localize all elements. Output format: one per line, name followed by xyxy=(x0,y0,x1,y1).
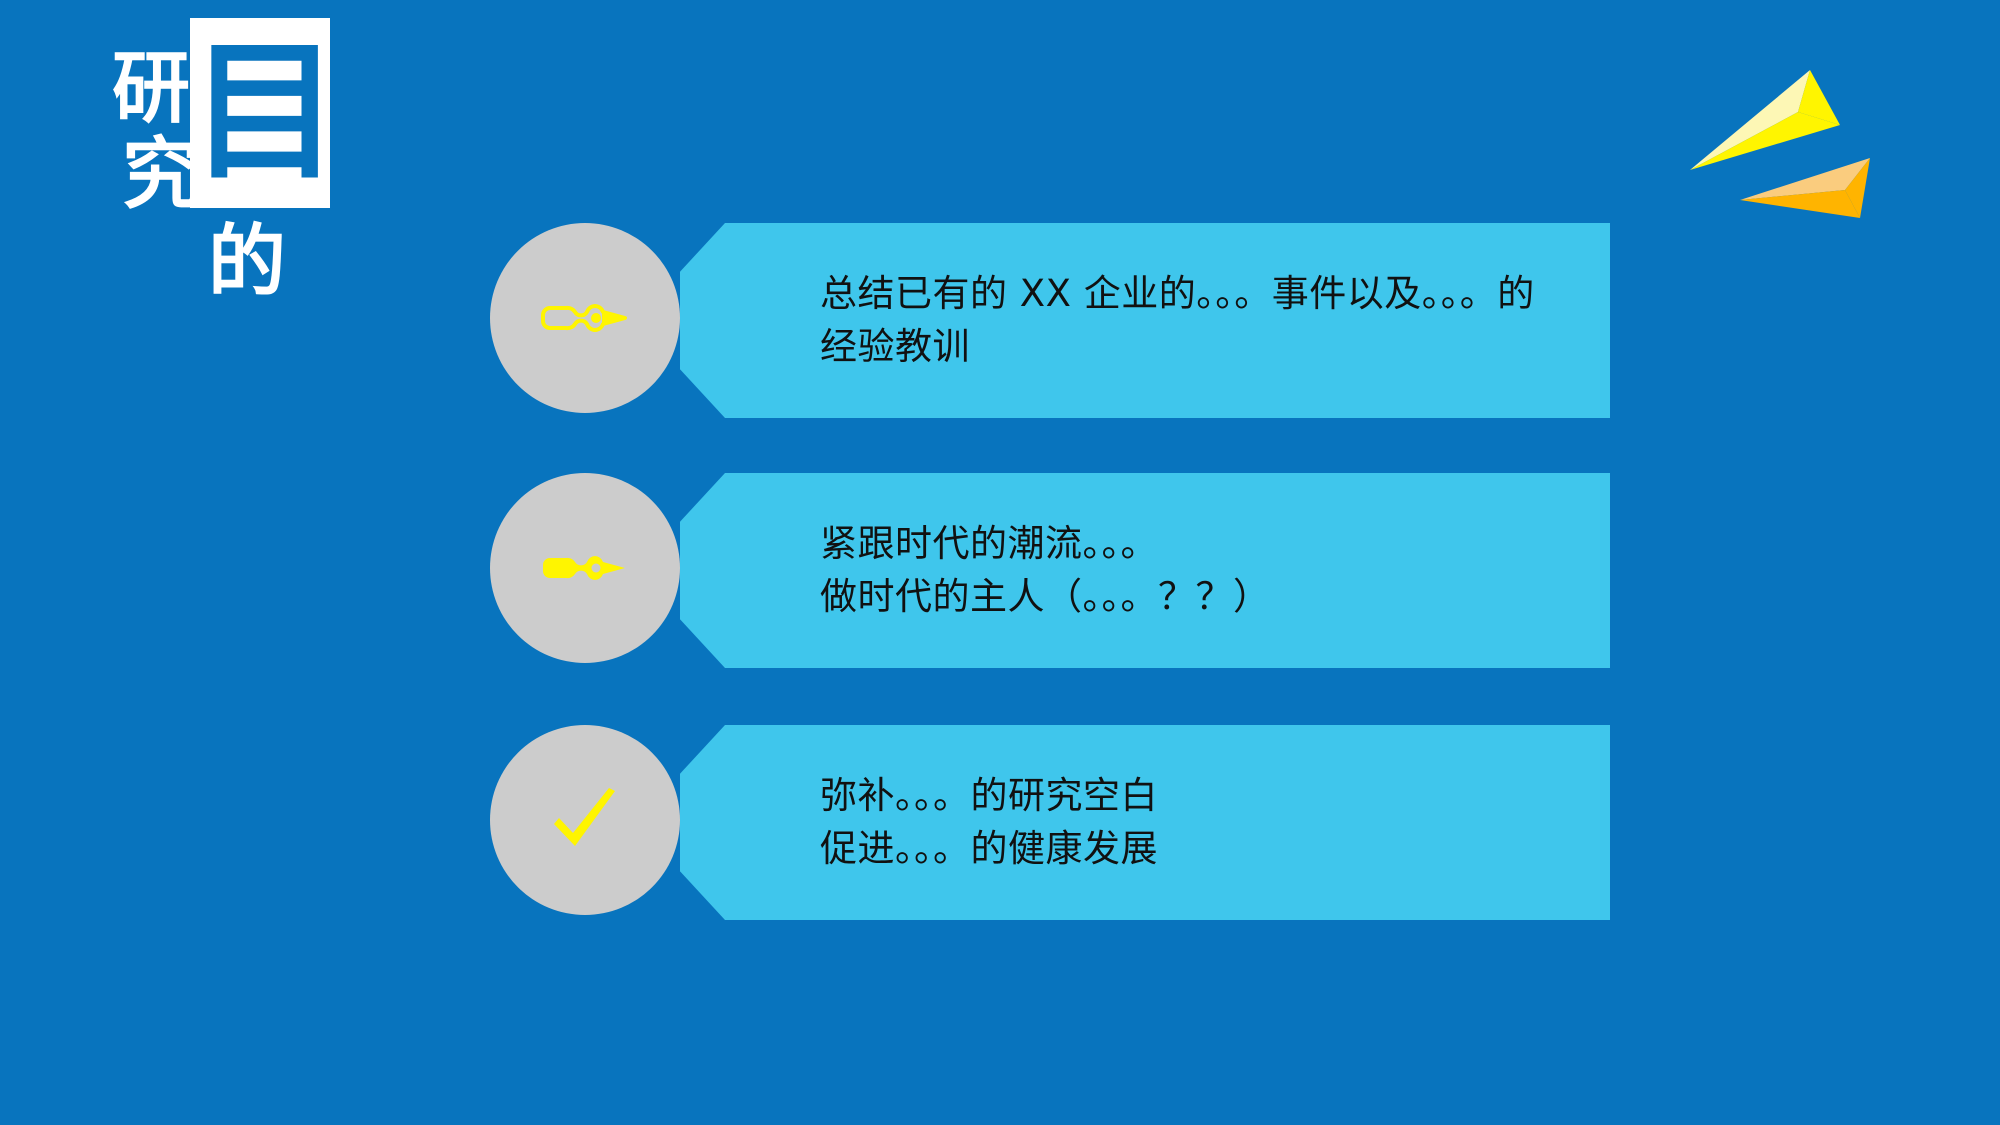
pen-nib-outline-icon xyxy=(490,223,680,413)
banner-line: 做时代的主人（。。。？？） xyxy=(820,571,1580,624)
banner-line: 促进。。。的健康发展 xyxy=(820,823,1580,876)
banner-text: 紧跟时代的潮流。。。 做时代的主人（。。。？？） xyxy=(820,473,1580,668)
banner-shape: 紧跟时代的潮流。。。 做时代的主人（。。。？？） xyxy=(680,473,1610,668)
banner-line: 紧跟时代的潮流。。。 xyxy=(820,518,1580,571)
list-item[interactable]: 紧跟时代的潮流。。。 做时代的主人（。。。？？） xyxy=(490,473,1610,668)
banner-text: 弥补。。。的研究空白 促进。。。的健康发展 xyxy=(820,725,1580,920)
list-item[interactable]: 弥补。。。的研究空白 促进。。。的健康发展 xyxy=(490,725,1610,920)
slide-canvas: 目 研 究 的 总结已有的 XX 企业的。。。事件以及。。。的 xyxy=(0,0,2000,1125)
banner-line: 经验教训 xyxy=(820,321,1580,374)
banner-shape: 总结已有的 XX 企业的。。。事件以及。。。的 经验教训 xyxy=(680,223,1610,418)
pen-nib-filled-icon xyxy=(490,473,680,663)
content-rows: 总结已有的 XX 企业的。。。事件以及。。。的 经验教训 紧跟时代的潮流。。。 … xyxy=(0,0,2000,1125)
banner-line: 弥补。。。的研究空白 xyxy=(820,770,1580,823)
banner-shape: 弥补。。。的研究空白 促进。。。的健康发展 xyxy=(680,725,1610,920)
check-mark-icon xyxy=(490,725,680,915)
list-item[interactable]: 总结已有的 XX 企业的。。。事件以及。。。的 经验教训 xyxy=(490,223,1610,418)
banner-text: 总结已有的 XX 企业的。。。事件以及。。。的 经验教训 xyxy=(820,223,1580,418)
banner-line: 总结已有的 XX 企业的。。。事件以及。。。的 xyxy=(820,268,1580,321)
